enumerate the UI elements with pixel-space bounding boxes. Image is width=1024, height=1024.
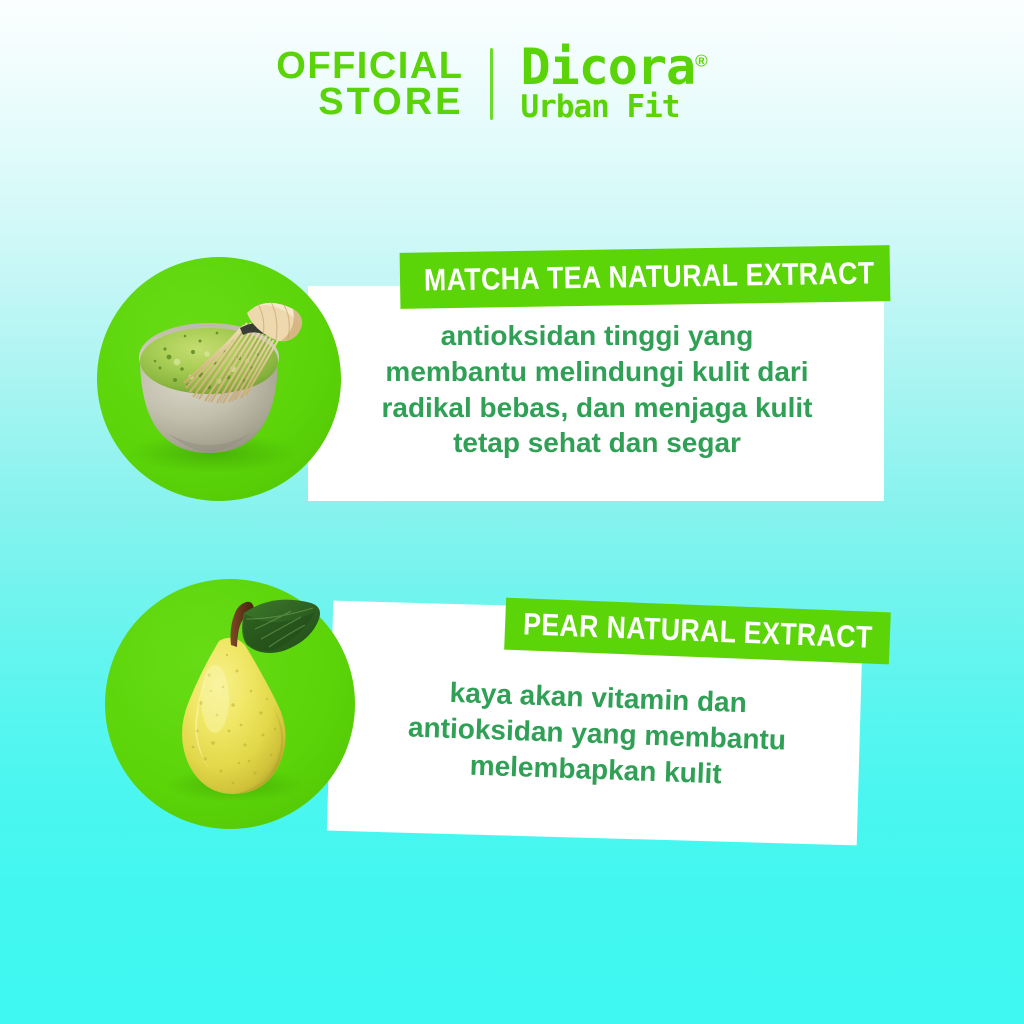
- pear-fruit-icon: [105, 579, 355, 829]
- pear-description: kaya akan vitamin dan antioksidan yang m…: [350, 671, 843, 796]
- matcha-image-circle: [97, 257, 341, 501]
- ingredient-infographic-poster: OFFICIAL STORE Dicora® Urban Fit MATCHA …: [0, 0, 1024, 1024]
- pear-title-text: PEAR NATURAL EXTRACT: [522, 606, 873, 655]
- matcha-bowl-whisk-icon: [97, 257, 341, 501]
- matcha-title-banner: MATCHA TEA NATURAL EXTRACT: [400, 245, 891, 309]
- matcha-description-line-3: radikal bebas, dan menjaga kulit: [332, 390, 862, 426]
- matcha-description: antioksidan tinggi yang membantu melindu…: [332, 318, 862, 461]
- pear-image-circle: [105, 579, 355, 829]
- matcha-description-line-4: tetap sehat dan segar: [332, 425, 862, 461]
- matcha-description-line-1: antioksidan tinggi yang: [332, 318, 862, 354]
- matcha-description-line-2: membantu melindungi kulit dari: [332, 354, 862, 390]
- ingredient-panel-pear: PEAR NATURAL EXTRACT kaya akan vitamin d…: [0, 0, 1024, 1024]
- matcha-title-text: MATCHA TEA NATURAL EXTRACT: [424, 255, 875, 298]
